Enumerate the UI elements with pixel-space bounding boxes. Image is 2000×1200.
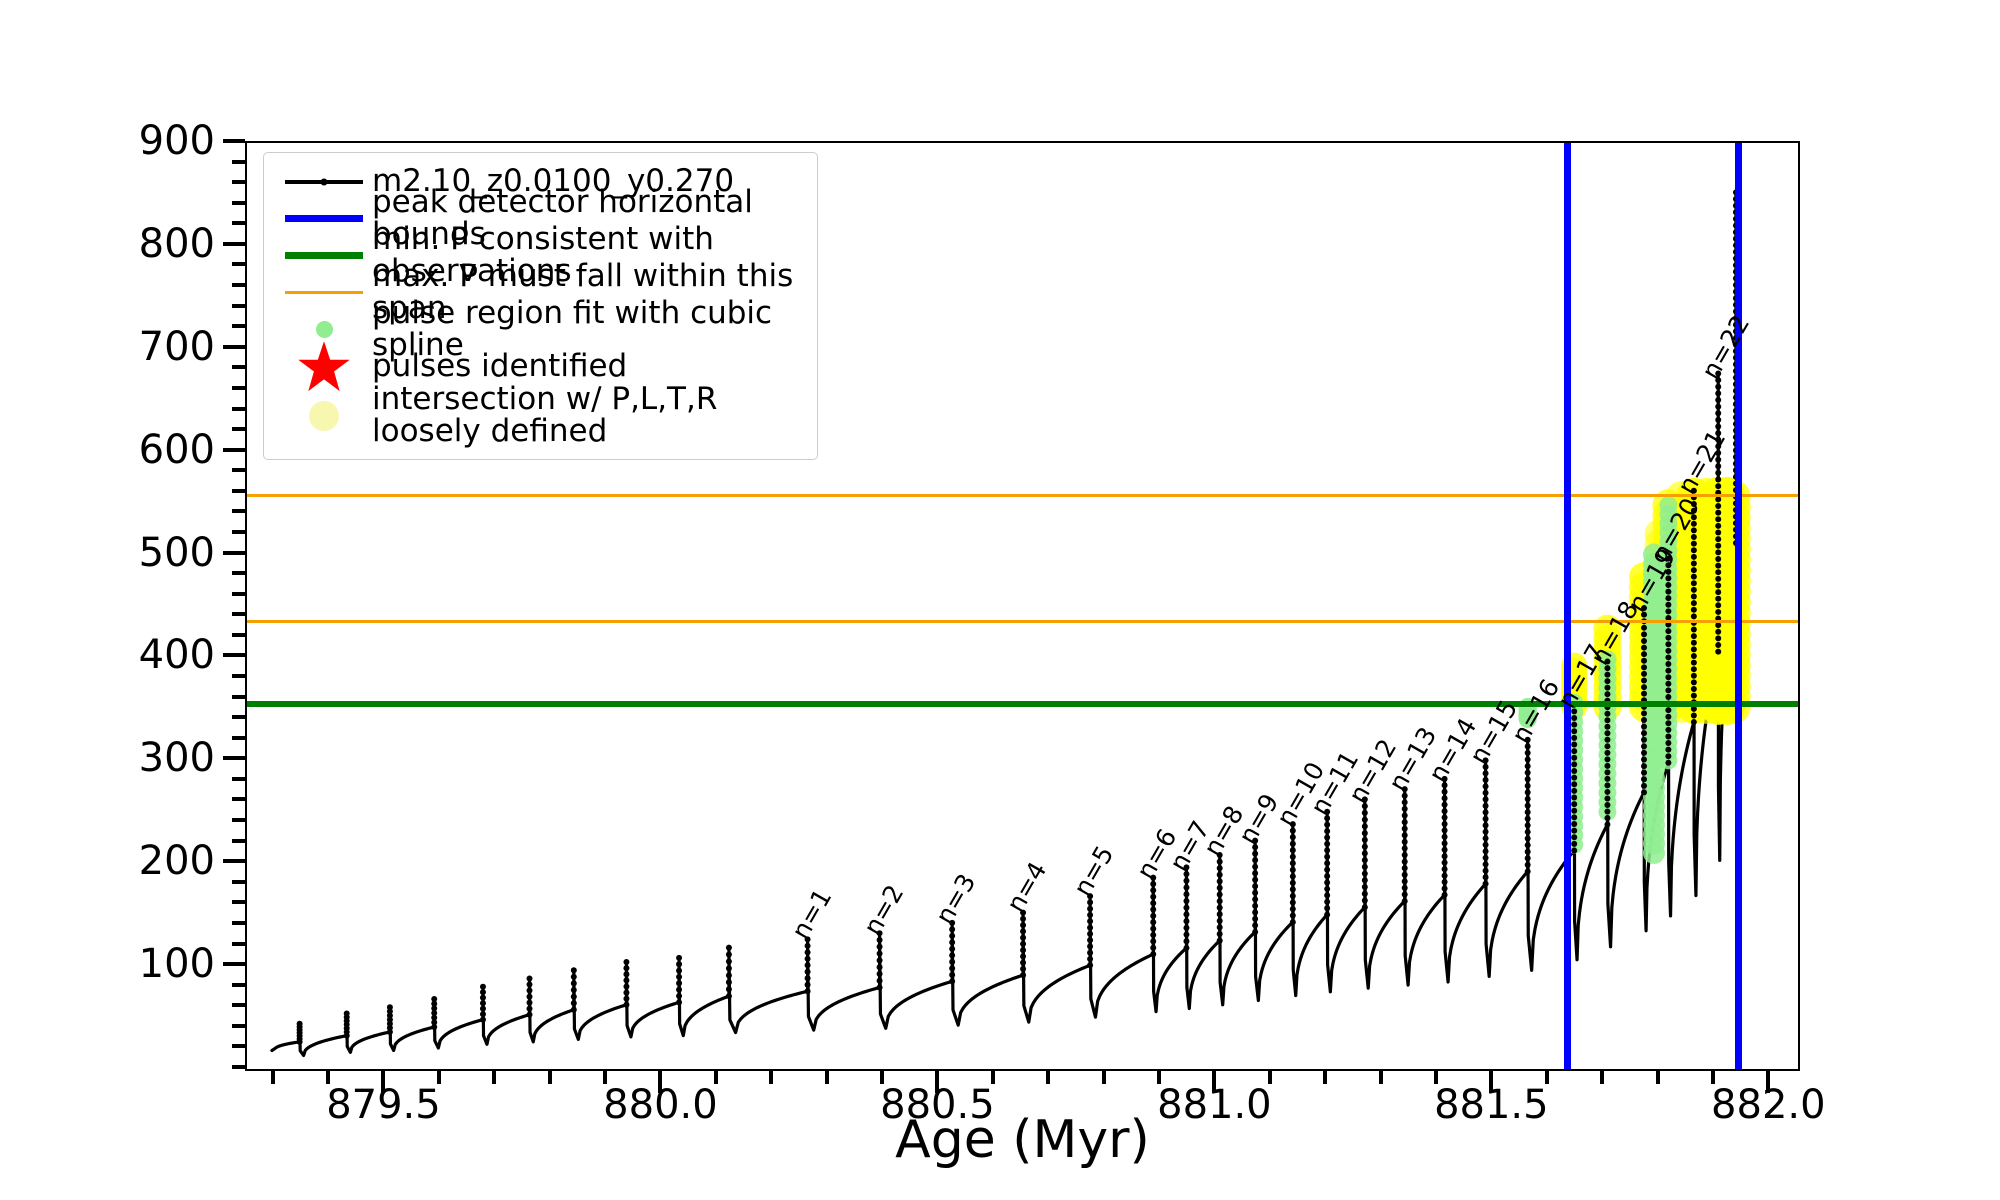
y-tick-minor bbox=[232, 797, 245, 801]
y-tick-minor bbox=[232, 304, 245, 308]
y-tick-minor bbox=[232, 942, 245, 946]
y-tick-minor bbox=[232, 900, 245, 904]
x-tick-minor bbox=[492, 1071, 496, 1084]
y-tick-label: 400 bbox=[139, 632, 215, 678]
y-tick-major bbox=[223, 448, 245, 452]
v-reference-line bbox=[1564, 143, 1571, 1069]
y-tick-major bbox=[223, 962, 245, 966]
x-tick-minor bbox=[1379, 1071, 1383, 1084]
x-tick-minor bbox=[1046, 1071, 1050, 1084]
y-tick-minor bbox=[232, 509, 245, 513]
y-tick-minor bbox=[232, 1044, 245, 1048]
legend-label-pulses: pulses identified bbox=[372, 351, 627, 383]
y-tick-label: 800 bbox=[139, 221, 215, 267]
orange-line-icon bbox=[276, 274, 372, 311]
y-tick-minor bbox=[232, 818, 245, 822]
y-tick-minor bbox=[232, 324, 245, 328]
y-tick-minor bbox=[232, 468, 245, 472]
y-tick-minor bbox=[232, 201, 245, 205]
y-tick-minor bbox=[232, 695, 245, 699]
y-tick-minor bbox=[232, 160, 245, 164]
legend-item-intersection[interactable]: intersection w/ P,L,T,R loosely defined bbox=[276, 385, 805, 447]
x-tick-label: 881.5 bbox=[1434, 1082, 1549, 1128]
y-tick-minor bbox=[232, 427, 245, 431]
y-tick-major bbox=[223, 859, 245, 863]
y-tick-minor bbox=[232, 530, 245, 534]
x-tick-minor bbox=[1600, 1071, 1604, 1084]
x-tick-minor bbox=[825, 1071, 829, 1084]
y-tick-minor bbox=[232, 407, 245, 411]
y-tick-label: 200 bbox=[139, 838, 215, 884]
y-tick-minor bbox=[232, 921, 245, 925]
y-tick-minor bbox=[232, 736, 245, 740]
y-tick-minor bbox=[232, 489, 245, 493]
y-tick-major bbox=[223, 242, 245, 246]
y-tick-minor bbox=[232, 221, 245, 225]
y-tick-minor bbox=[232, 777, 245, 781]
red-star-icon bbox=[276, 348, 372, 385]
y-tick-minor bbox=[232, 633, 245, 637]
x-tick-minor bbox=[1656, 1071, 1660, 1084]
yellow-dot-icon bbox=[276, 398, 372, 435]
y-tick-minor bbox=[232, 592, 245, 596]
y-tick-major bbox=[223, 139, 245, 143]
y-tick-minor bbox=[232, 180, 245, 184]
y-tick-label: 700 bbox=[139, 324, 215, 370]
x-tick-label: 880.0 bbox=[603, 1082, 718, 1128]
legend-label-intersection: intersection w/ P,L,T,R loosely defined bbox=[372, 384, 717, 447]
y-tick-major bbox=[223, 653, 245, 657]
legend: m2.10_z0.0100_y0.270 peak detector horiz… bbox=[263, 152, 818, 460]
x-tick-minor bbox=[271, 1071, 275, 1084]
x-tick-label: 882.0 bbox=[1711, 1082, 1826, 1128]
y-tick-minor bbox=[232, 880, 245, 884]
v-reference-line bbox=[1735, 143, 1742, 1069]
y-tick-minor bbox=[232, 571, 245, 575]
y-tick-label: 100 bbox=[139, 941, 215, 987]
y-tick-minor bbox=[232, 1003, 245, 1007]
y-tick-minor bbox=[232, 365, 245, 369]
y-tick-minor bbox=[232, 839, 245, 843]
legend-item-spline[interactable]: pulse region fit with cubic spline bbox=[276, 311, 805, 348]
x-axis-title: Age (Myr) bbox=[245, 1110, 1800, 1170]
y-tick-label: 500 bbox=[139, 530, 215, 576]
x-tick-label: 879.5 bbox=[326, 1082, 441, 1128]
y-tick-minor bbox=[232, 283, 245, 287]
x-tick-minor bbox=[769, 1071, 773, 1084]
x-tick-minor bbox=[1323, 1071, 1327, 1084]
y-tick-label: 300 bbox=[139, 735, 215, 781]
y-tick-minor bbox=[232, 386, 245, 390]
y-tick-major bbox=[223, 345, 245, 349]
x-tick-minor bbox=[548, 1071, 552, 1084]
figure-canvas: O1 period (days) Age (Myr) 1002003004005… bbox=[0, 0, 2000, 1200]
y-tick-minor bbox=[232, 262, 245, 266]
green-line-icon bbox=[276, 237, 372, 274]
x-tick-label: 880.5 bbox=[880, 1082, 995, 1128]
y-tick-minor bbox=[232, 612, 245, 616]
y-tick-minor bbox=[232, 983, 245, 987]
y-tick-minor bbox=[232, 715, 245, 719]
blue-line-icon bbox=[276, 200, 372, 237]
y-tick-minor bbox=[232, 1024, 245, 1028]
x-tick-minor bbox=[1102, 1071, 1106, 1084]
y-tick-major bbox=[223, 756, 245, 760]
x-tick-label: 881.0 bbox=[1157, 1082, 1272, 1128]
y-tick-label: 900 bbox=[139, 118, 215, 164]
y-tick-minor bbox=[232, 674, 245, 678]
y-tick-minor bbox=[232, 1065, 245, 1069]
y-tick-major bbox=[223, 551, 245, 555]
line-dot-icon bbox=[276, 163, 372, 200]
y-tick-label: 600 bbox=[139, 427, 215, 473]
